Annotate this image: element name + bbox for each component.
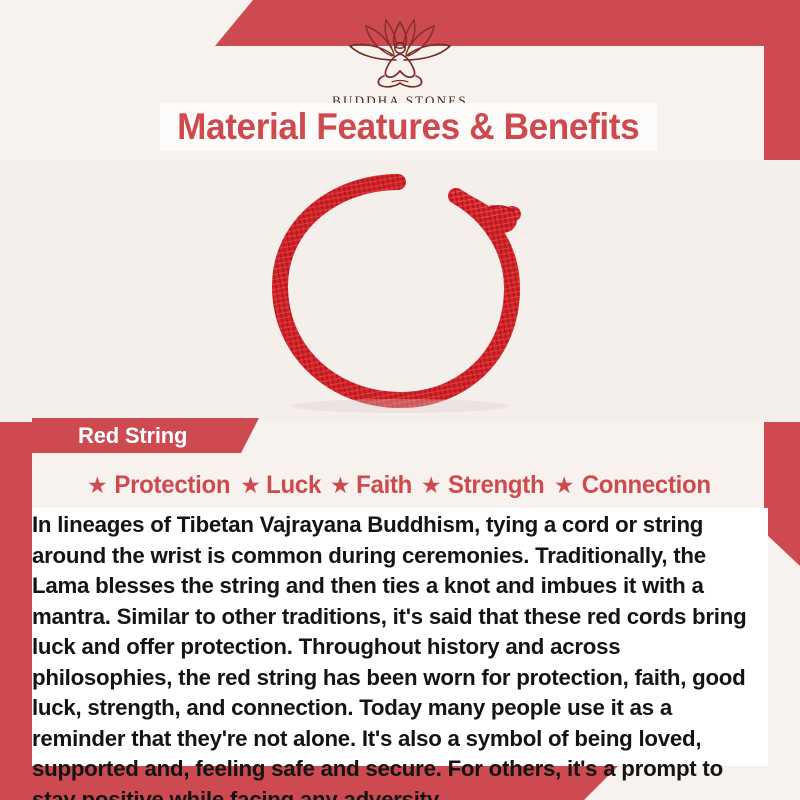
- page-title: Material Features & Benefits: [177, 106, 639, 148]
- product-label: Red String: [78, 423, 187, 449]
- star-icon: ★: [421, 474, 442, 497]
- benefit-label: Protection: [114, 471, 230, 500]
- star-icon: ★: [87, 474, 108, 497]
- benefit-item-connection: ★ Connection: [554, 471, 713, 500]
- star-icon: ★: [330, 474, 351, 497]
- product-label-banner: Red String: [32, 418, 259, 453]
- benefit-label: Connection: [581, 471, 710, 500]
- product-image-area: [0, 160, 800, 422]
- benefit-label: Faith: [356, 471, 412, 500]
- benefits-list: ★ Protection ★ Luck ★ Faith ★ Strength ★…: [36, 465, 764, 505]
- benefit-item-strength: ★ Strength: [421, 471, 546, 500]
- infographic-page: BUDDHA STONES Material Features & Benefi…: [0, 0, 800, 800]
- decorative-band-left: [0, 390, 32, 780]
- benefit-item-faith: ★ Faith: [330, 471, 413, 500]
- benefit-label: Strength: [448, 471, 544, 500]
- benefit-item-protection: ★ Protection: [87, 471, 232, 500]
- description-text: In lineages of Tibetan Vajrayana Buddhis…: [32, 510, 749, 800]
- brand-logo: BUDDHA STONES: [0, 16, 800, 109]
- star-icon: ★: [554, 474, 575, 497]
- benefit-item-luck: ★ Luck: [240, 471, 322, 500]
- title-banner: Material Features & Benefits: [160, 103, 657, 151]
- red-braided-cord-bracelet-image: [250, 168, 550, 418]
- star-icon: ★: [240, 474, 261, 497]
- benefit-label: Luck: [266, 471, 321, 500]
- description-panel: In lineages of Tibetan Vajrayana Buddhis…: [32, 508, 768, 766]
- lotus-meditation-icon: [334, 16, 466, 90]
